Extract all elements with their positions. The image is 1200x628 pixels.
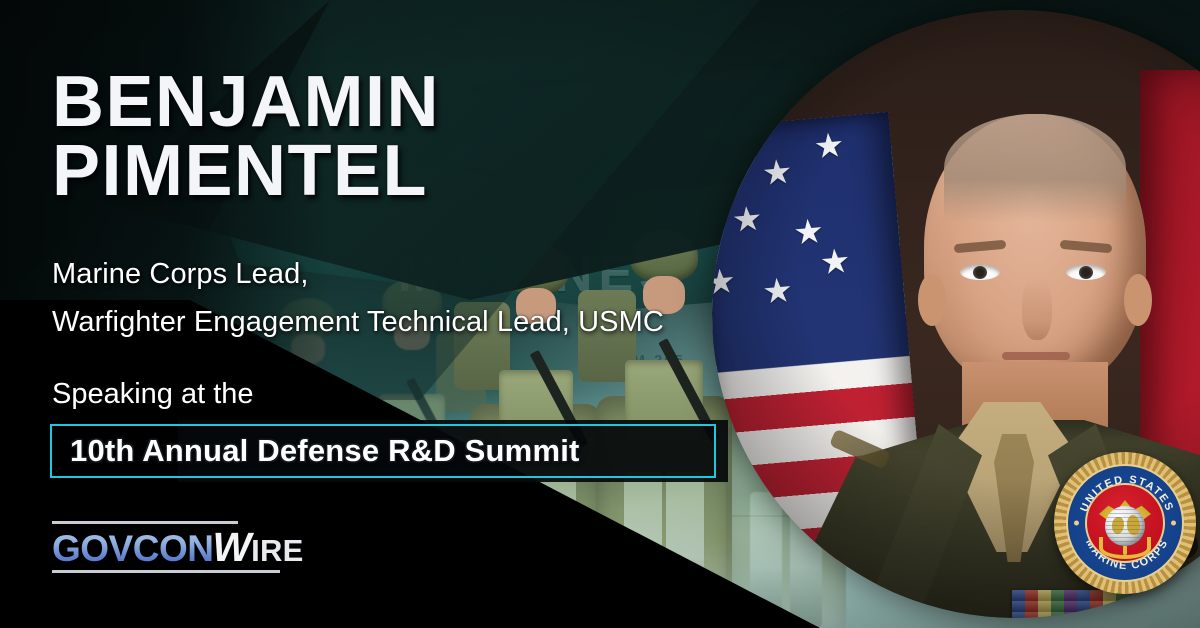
logo-wordmark: GOVCON W IRE [52,527,280,568]
speaker-role-line-1: Marine Corps Lead, [52,258,309,291]
speaker-role-line-2: Warfighter Engagement Technical Lead, US… [52,306,664,339]
usmc-seal-icon: UNITED STATES MARINE CORPS [1054,452,1196,594]
seal-red-center [1085,483,1165,563]
seal-dot [1074,521,1079,526]
govconwire-logo[interactable]: GOVCON W IRE [52,521,280,573]
seal-blue-ring: UNITED STATES MARINE CORPS [1066,464,1184,582]
event-title: 10th Annual Defense R&D Summit [52,433,580,469]
seal-dot [1171,521,1176,526]
speaker-last-name: PIMENTEL [52,137,440,206]
speaker-first-name: BENJAMIN [52,62,440,142]
logo-text-w: W [212,527,250,568]
logo-text-govcon: GOVCON [52,530,213,567]
logo-rule-bottom [52,570,280,573]
logo-rule-top [52,521,238,524]
speaker-announcement-graphic: MARINES MM-265 [0,0,1200,628]
speaking-prefix: Speaking at the [52,378,254,411]
speaker-name: BENJAMIN PIMENTEL [52,68,440,206]
logo-text-ire: IRE [251,535,303,566]
event-title-box: 10th Annual Defense R&D Summit [50,424,716,478]
globe-icon [1105,506,1145,546]
